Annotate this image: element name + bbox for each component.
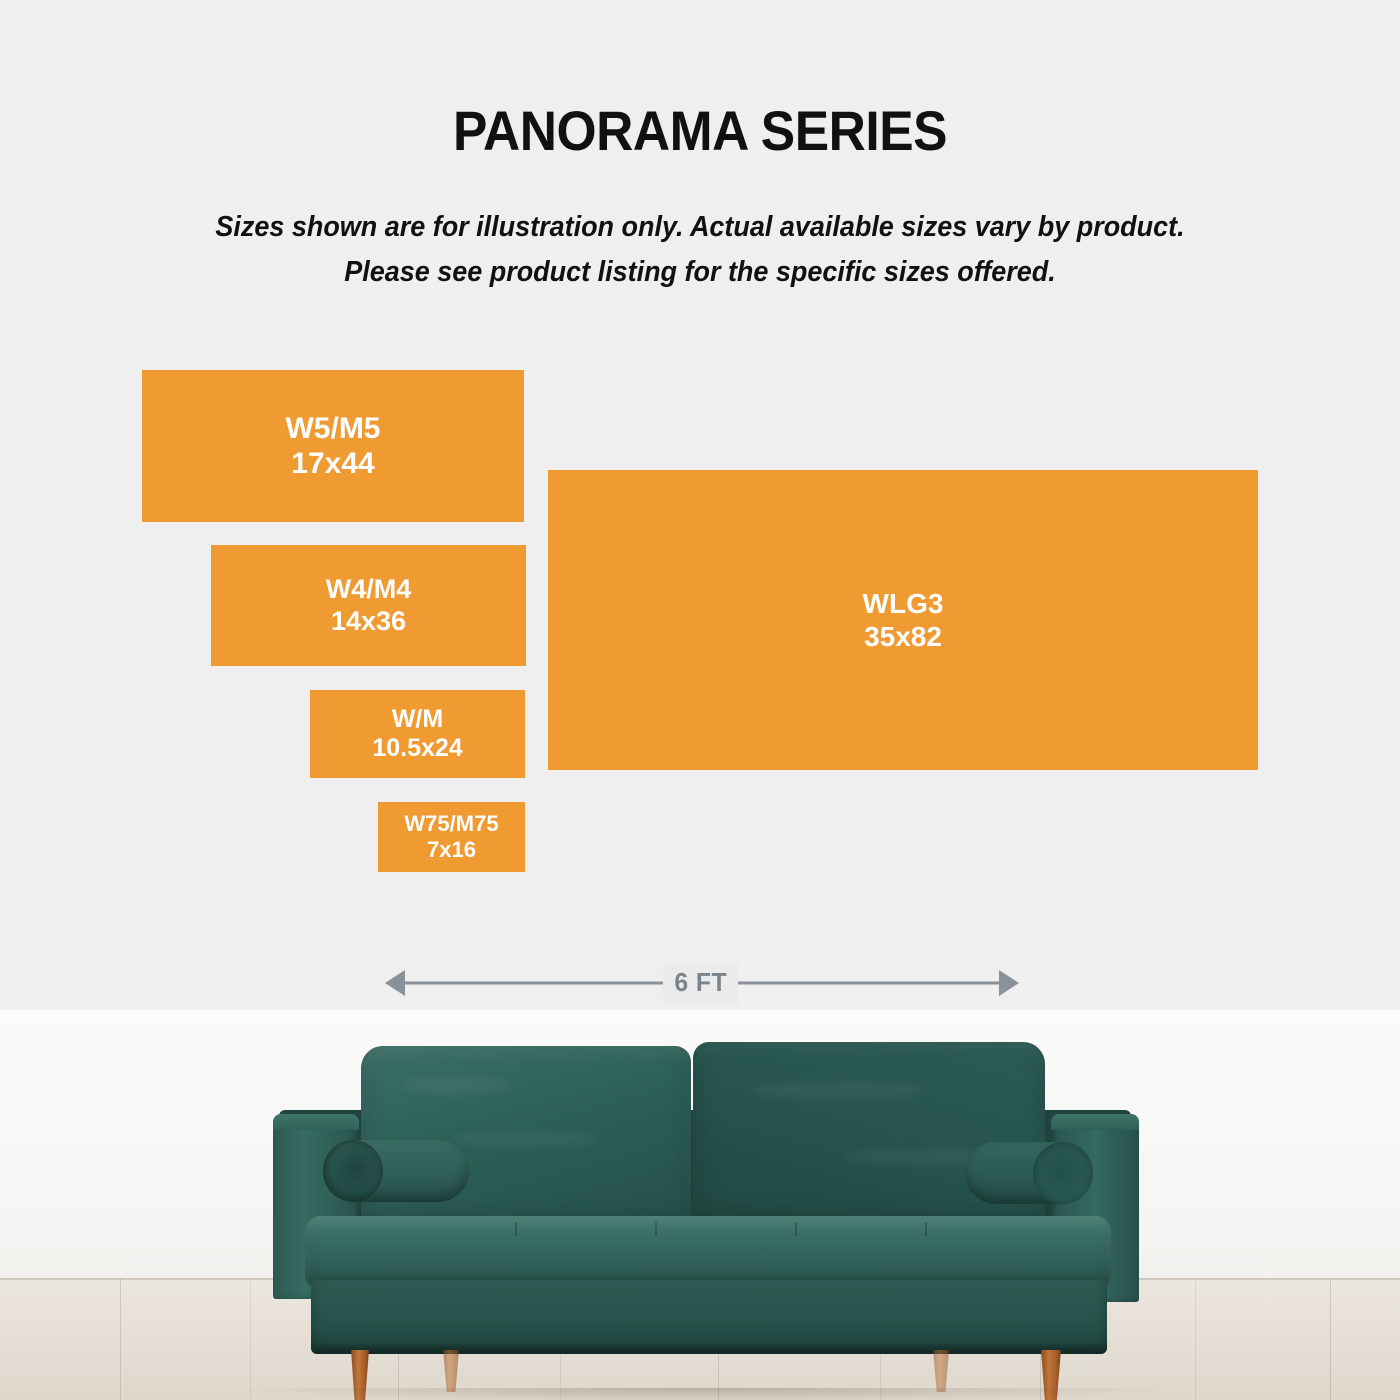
seat-tuft	[655, 1222, 657, 1236]
scale-reference-measure: 6 FT	[385, 962, 1019, 1004]
sofa-arm-right-top	[1051, 1114, 1139, 1130]
size-box-code: WLG3	[863, 587, 944, 620]
page-title: PANORAMA SERIES	[56, 98, 1344, 163]
size-box-dims: 10.5x24	[372, 734, 462, 764]
floor-plank	[120, 1278, 121, 1400]
size-box-code: W75/M75	[404, 811, 498, 837]
sofa-base-shadow	[311, 1342, 1107, 1354]
size-comparison-graphic: PANORAMA SERIES Sizes shown are for illu…	[0, 0, 1400, 1400]
sofa-back-cushion-left	[361, 1046, 691, 1230]
size-box-wlg3: WLG3 35x82	[548, 470, 1258, 770]
fabric-wrinkle	[401, 1076, 511, 1094]
sofa-leg-back-left	[443, 1350, 459, 1392]
floor-plank	[1195, 1278, 1196, 1400]
subtitle-line-1: Sizes shown are for illustration only. A…	[49, 205, 1351, 250]
sofa-bolster-pillow-right-end	[1033, 1142, 1093, 1204]
sofa-illustration	[265, 1022, 1145, 1400]
size-box-w5m5: W5/M5 17x44	[142, 370, 524, 522]
size-box-wm: W/M 10.5x24	[310, 690, 525, 778]
sofa-reference-scene	[0, 1010, 1400, 1400]
sofa-seat-cushion	[305, 1216, 1111, 1286]
seat-tuft	[795, 1222, 797, 1236]
sofa-floor-shadow	[235, 1388, 1175, 1400]
fabric-wrinkle	[451, 1132, 601, 1146]
sofa-leg-back-right	[933, 1350, 949, 1392]
size-box-code: W5/M5	[285, 411, 380, 446]
seat-tuft	[925, 1222, 927, 1236]
sofa-arm-left-top	[273, 1114, 359, 1130]
size-box-code: W4/M4	[326, 574, 412, 606]
sofa-bolster-pillow-left-end	[323, 1140, 383, 1202]
size-box-code: W/M	[392, 705, 443, 735]
page-subtitle: Sizes shown are for illustration only. A…	[49, 205, 1351, 295]
size-box-dims: 7x16	[427, 837, 476, 863]
floor-plank	[1330, 1278, 1331, 1400]
subtitle-line-2: Please see product listing for the speci…	[49, 250, 1351, 295]
size-box-dims: 14x36	[331, 606, 406, 638]
scale-reference-label: 6 FT	[663, 962, 738, 1006]
floor-plank	[250, 1278, 251, 1400]
seat-tuft	[515, 1222, 517, 1236]
size-box-w4m4: W4/M4 14x36	[211, 545, 526, 666]
fabric-wrinkle	[753, 1082, 923, 1098]
size-box-w75m75: W75/M75 7x16	[378, 802, 525, 872]
size-box-dims: 35x82	[864, 620, 942, 653]
size-box-dims: 17x44	[291, 446, 374, 481]
